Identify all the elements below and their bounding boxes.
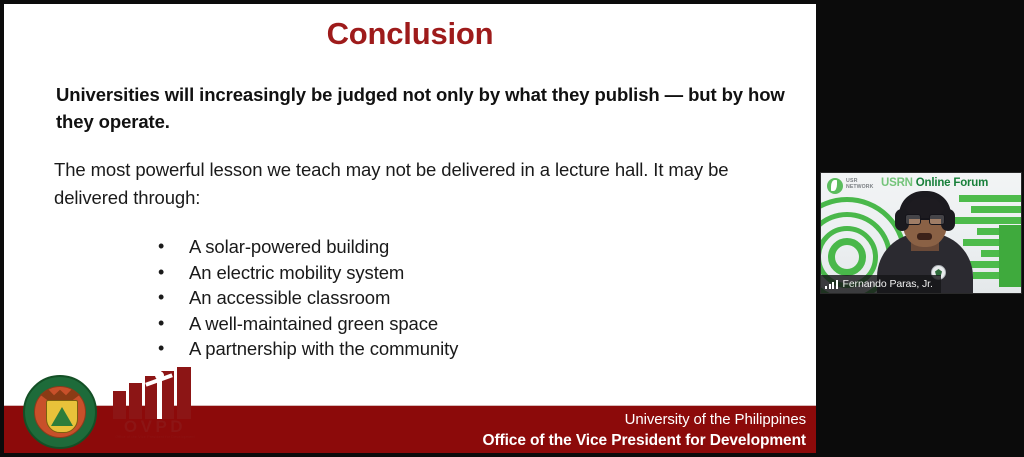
glasses-lens-right	[929, 214, 945, 225]
list-item: • A well-maintained green space	[154, 311, 458, 337]
usrn-wordmark: USR NETWORK	[846, 178, 874, 190]
lead-paragraph: Universities will increasingly be judged…	[56, 81, 786, 135]
bullet-icon: •	[158, 234, 164, 260]
page-title: Conclusion	[4, 16, 816, 52]
footer-institution: University of the Philippines	[483, 410, 806, 430]
body-paragraph: The most powerful lesson we teach may no…	[54, 156, 794, 212]
glasses-icon	[905, 214, 945, 225]
up-shield-icon	[46, 400, 78, 433]
footer-office: Office of the Vice President for Develop…	[483, 430, 806, 451]
bullet-list: • A solar-powered building • An electric…	[154, 234, 458, 362]
green-block-graphic	[999, 225, 1021, 287]
footer-text: University of the Philippines Office of …	[483, 410, 806, 451]
usrn-wordmark-line2: NETWORK	[846, 184, 874, 190]
shield-triangle	[51, 407, 73, 426]
usrn-leaf-icon	[827, 178, 843, 194]
screen-root: Conclusion Universities will increasingl…	[0, 0, 1024, 457]
up-seal-logo	[23, 375, 97, 449]
bullet-icon: •	[158, 260, 164, 286]
glasses-bridge	[921, 218, 929, 220]
ovpd-acronym: OVPD	[109, 417, 201, 437]
signal-strength-icon	[825, 279, 838, 289]
usrn-network-logo: USR NETWORK	[827, 177, 879, 195]
ovpd-bars-icon	[113, 367, 197, 419]
list-item-label: A well-maintained green space	[189, 313, 438, 334]
bullet-icon: •	[158, 285, 164, 311]
list-item-label: An accessible classroom	[189, 287, 390, 308]
list-item-label: An electric mobility system	[189, 262, 404, 283]
participant-name-label: Fernando Paras, Jr.	[843, 278, 933, 290]
list-item: • An electric mobility system	[154, 260, 458, 286]
presentation-slide: Conclusion Universities will increasingl…	[4, 4, 816, 453]
bullet-icon: •	[158, 311, 164, 337]
list-item: • A solar-powered building	[154, 234, 458, 260]
participant-name-bar: Fernando Paras, Jr.	[821, 275, 941, 293]
list-item: • A partnership with the community	[154, 336, 458, 362]
list-item-label: A partnership with the community	[189, 338, 458, 359]
list-item: • An accessible classroom	[154, 285, 458, 311]
avatar-mouth	[917, 233, 932, 240]
ovpd-subtitle: Office of the Vice President for Develop…	[109, 435, 201, 439]
ovpd-logo: OVPD Office of the Vice President for De…	[109, 367, 201, 449]
participant-video-tile[interactable]: USR NETWORK USRN Online Forum	[820, 172, 1022, 294]
list-item-label: A solar-powered building	[189, 236, 389, 257]
bullet-icon: •	[158, 336, 164, 362]
glasses-lens-left	[905, 214, 921, 225]
